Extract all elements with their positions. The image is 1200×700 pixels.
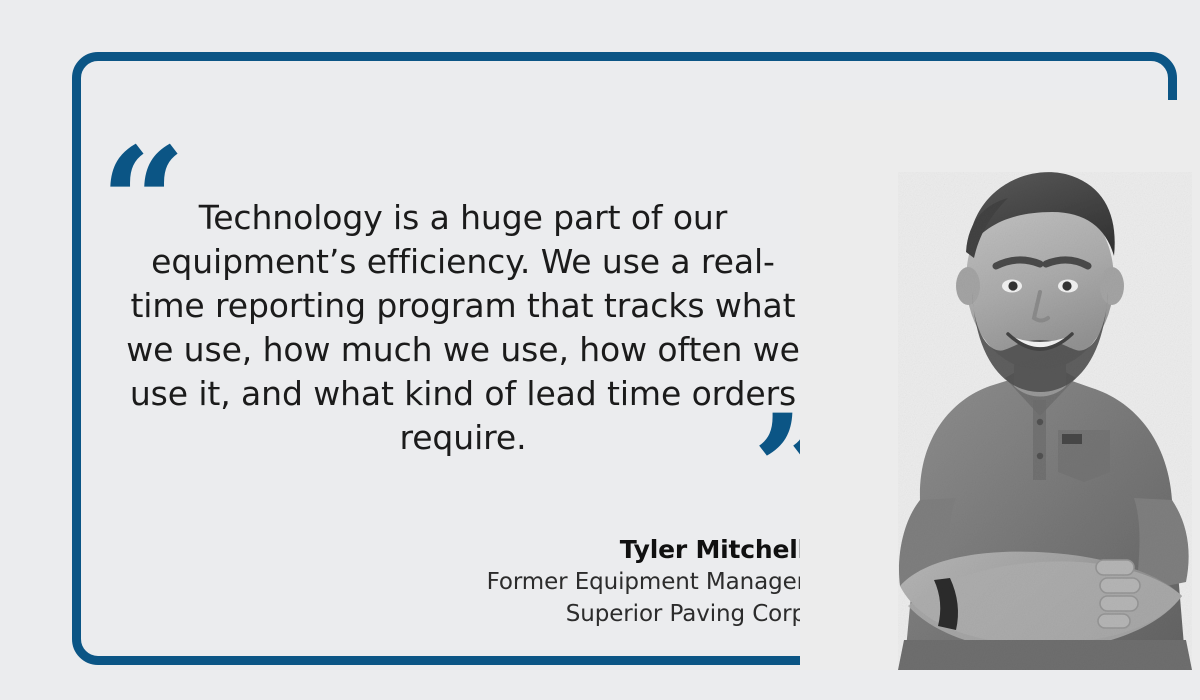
quote-block: Technology is a huge part of our equipme… [118, 196, 808, 460]
testimonial-slide: “ Technology is a huge part of our equip… [0, 0, 1200, 700]
attribution-company: Superior Paving Corp [380, 598, 806, 630]
quote-text: Technology is a huge part of our equipme… [118, 196, 808, 460]
portrait-photo [800, 100, 1200, 670]
attribution-name: Tyler Mitchell [380, 533, 806, 566]
attribution: Tyler Mitchell Former Equipment Manager … [380, 533, 806, 630]
attribution-role: Former Equipment Manager [380, 566, 806, 598]
portrait-illustration [800, 100, 1200, 670]
